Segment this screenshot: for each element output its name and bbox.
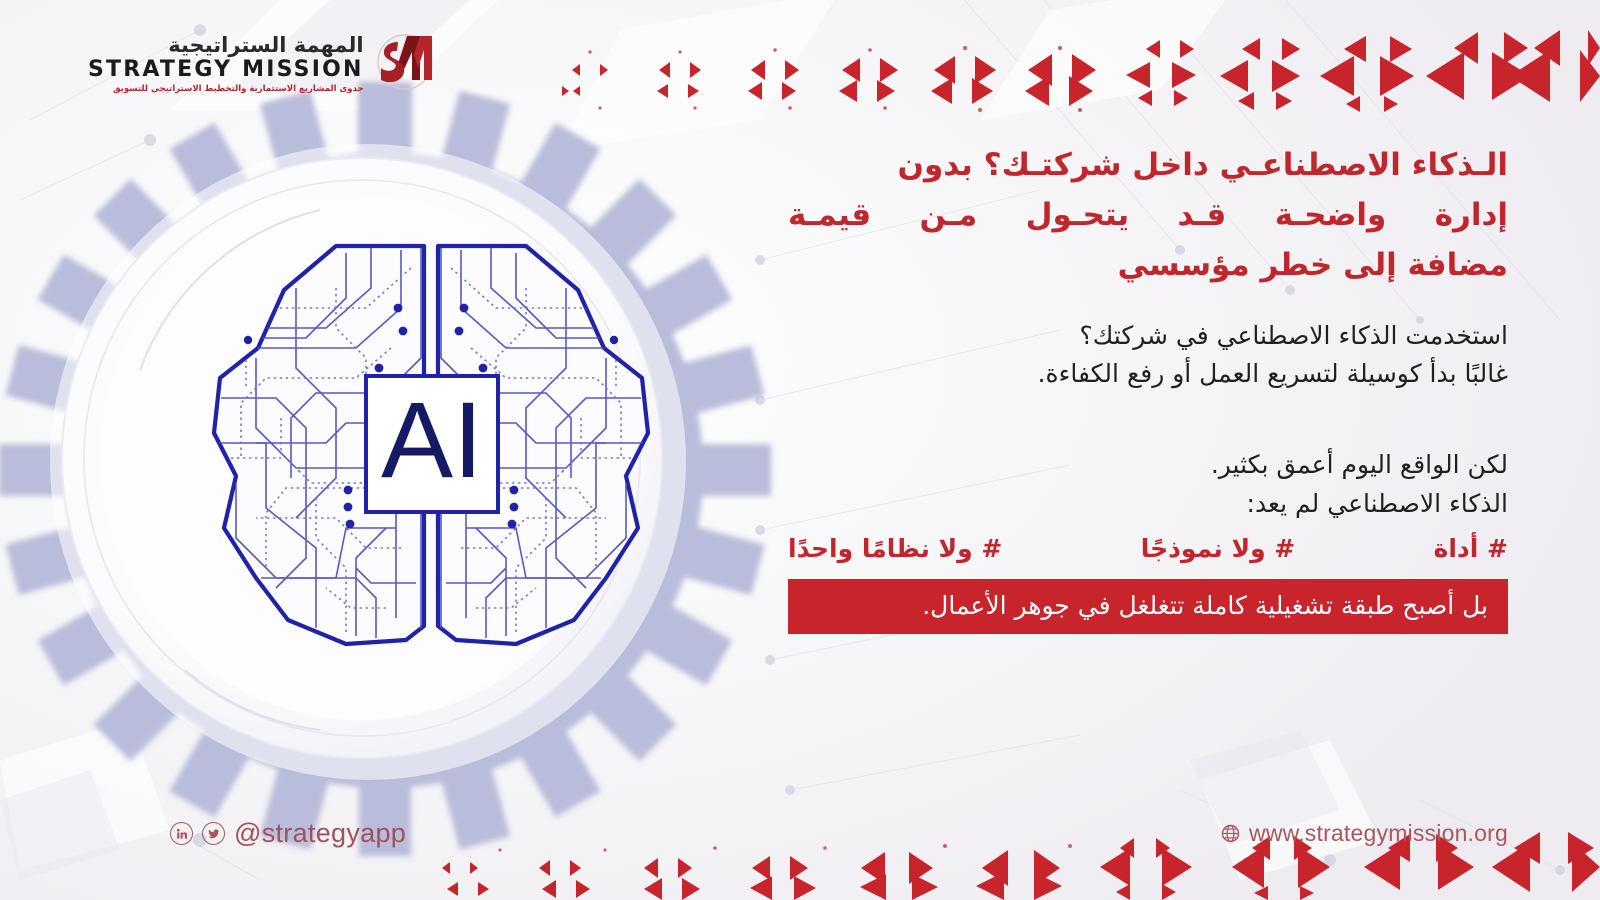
hashtag-item: # أداة [1434,534,1508,563]
sm-monogram-icon [374,28,436,100]
highlight-banner: بل أصبح طبقة تشغيلية كاملة تتغلغل في جوه… [788,579,1508,635]
headline-line-2: إدارة واضحـة قـد يتحـول مـن قيمـة [788,190,1508,240]
body-p2-line-1: لكن الواقع اليوم أعمق بكثير. [788,446,1508,485]
website-group: www.strategymission.org [1221,820,1508,847]
headline-line-3: مضافة إلى خطر مؤسسي [788,240,1508,290]
circuit-brain-icon: AI [196,228,666,658]
page-title: الـذكاء الاصطناعـي داخل شركتـك؟ بدون إدا… [788,140,1508,291]
headline-word: إدارة [1435,190,1508,240]
brand-logo-text: المهمة الستراتيجية STRATEGY MISSION جدوى… [88,35,364,94]
headline-word: قيمـة [788,190,871,240]
linkedin-icon[interactable] [170,822,193,845]
brand-name-english: STRATEGY MISSION [88,59,364,81]
hashtag-list: # أداة # ولا نموذجًا # ولا نظامًا واحدًا [788,534,1508,563]
body-paragraph-2: لكن الواقع اليوم أعمق بكثير. الذكاء الاص… [788,446,1508,524]
headline-line-1: الـذكاء الاصطناعـي داخل شركتـك؟ بدون [788,140,1508,190]
headline-word: واضحـة [1275,190,1387,240]
body-p1-line-1: استخدمت الذكاء الاصطناعي في شركتك؟ [788,317,1508,356]
body-p1-line-2: غالبًا بدأ كوسيلة لتسريع العمل أو رفع ال… [788,355,1508,394]
headline-word: يتحـول [1026,190,1130,240]
headline-word: قـد [1178,190,1227,240]
social-handle-group: @strategyapp [170,818,412,849]
headline-word: مـن [920,190,978,240]
brand-name-arabic: المهمة الستراتيجية [88,35,364,56]
brand-tagline: جدوى المشاريع الاستثمارية والتخطيط الاست… [88,85,364,94]
brand-logo: المهمة الستراتيجية STRATEGY MISSION جدوى… [88,28,436,100]
social-handle[interactable]: @strategyapp [234,818,406,849]
ai-chip-label: AI [381,379,483,500]
hashtag-item: # ولا نموذجًا [1141,534,1296,563]
body-paragraph-1: استخدمت الذكاء الاصطناعي في شركتك؟ غالبً… [788,317,1508,395]
website-url[interactable]: www.strategymission.org [1249,820,1508,847]
globe-icon [1221,824,1240,843]
main-content: الـذكاء الاصطناعـي داخل شركتـك؟ بدون إدا… [788,140,1508,634]
poster-canvas: AI المهمة الستراتيجية STRATEGY MISSION ج… [0,0,1600,900]
hashtag-item: # ولا نظامًا واحدًا [788,534,1002,563]
body-p2-line-2: الذكاء الاصطناعي لم يعد: [788,485,1508,524]
triangle-pattern-top [560,22,1600,112]
twitter-icon[interactable] [202,822,225,845]
